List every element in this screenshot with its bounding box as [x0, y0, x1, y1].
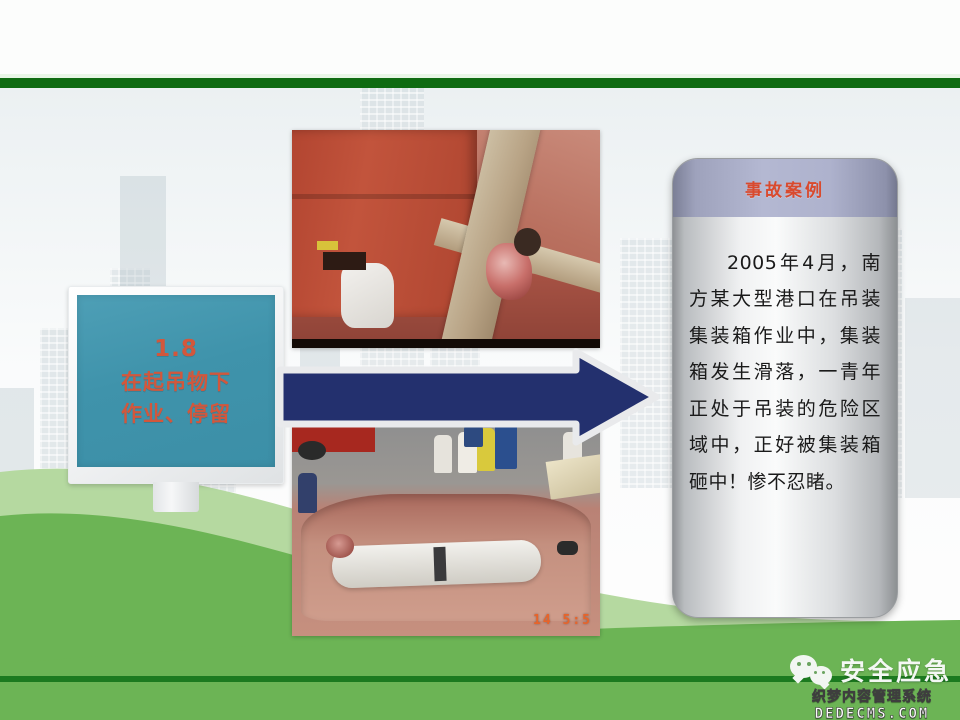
slide-canvas: 1.8 在起吊物下 作业、停留	[0, 0, 960, 720]
dedecms-cn-text: 织梦内容管理系统	[784, 686, 960, 706]
top-white-band	[0, 0, 960, 78]
dedecms-en-text: DEDECMS.COM	[784, 706, 960, 720]
case-study-header: 事故案例	[673, 159, 897, 217]
wechat-watermark: 安全应急	[790, 652, 952, 688]
monitor-graphic: 1.8 在起吊物下 作业、停留	[68, 286, 284, 484]
top-green-rule	[0, 78, 960, 88]
section-number: 1.8	[154, 338, 198, 361]
monitor-screen: 1.8 在起吊物下 作业、停留	[77, 295, 275, 467]
section-title-line2: 作业、停留	[121, 404, 231, 425]
photo-timestamp: 14 5:5	[533, 613, 592, 628]
case-study-body: 2005年4月，南方某大型港口在吊装集装箱作业中，集装箱发生滑落，一青年正处于吊…	[673, 217, 897, 617]
section-title-line1: 在起吊物下	[121, 372, 231, 393]
case-study-text: 2005年4月，南方某大型港口在吊装集装箱作业中，集装箱发生滑落，一青年正处于吊…	[689, 245, 881, 500]
case-study-panel: 事故案例 2005年4月，南方某大型港口在吊装集装箱作业中，集装箱发生滑落，一青…	[672, 158, 898, 618]
case-study-title: 事故案例	[745, 176, 825, 201]
background-building	[120, 176, 166, 296]
wechat-label: 安全应急	[840, 652, 952, 688]
dedecms-watermark: 织梦内容管理系统 DEDECMS.COM	[784, 686, 960, 720]
right-arrow-graphic	[276, 348, 660, 446]
wechat-icon	[790, 655, 832, 685]
accident-scene-photo: 14 5:5	[292, 424, 600, 636]
monitor-neck	[153, 482, 199, 512]
container-accident-photo	[292, 130, 600, 348]
